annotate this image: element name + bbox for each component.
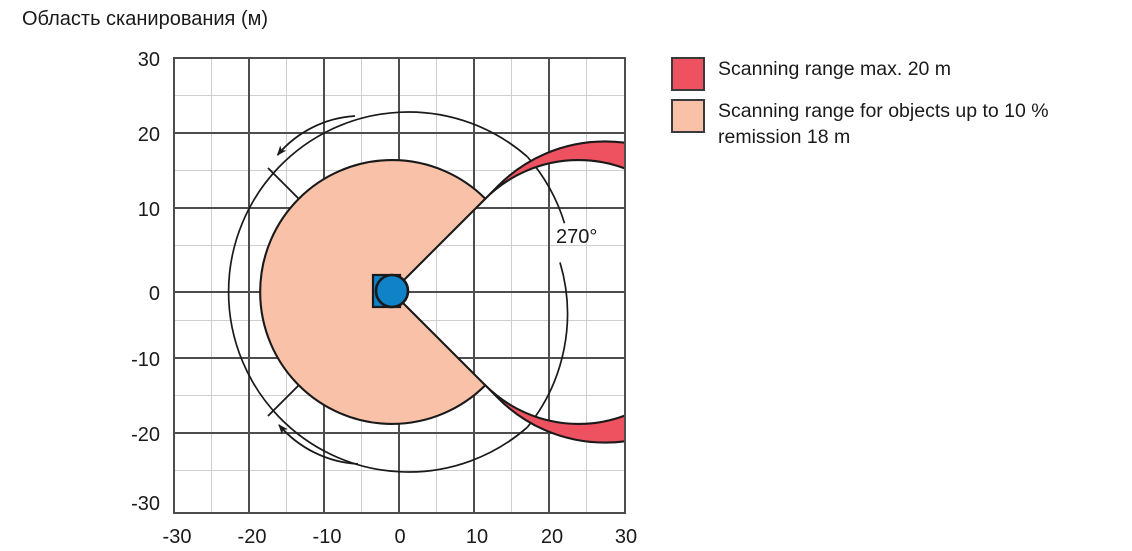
y-tick-label: -10 [131, 349, 160, 371]
legend-swatch-scanning-range-max [671, 57, 705, 91]
legend-swatch-remission-range [671, 99, 705, 133]
x-tick-label: -20 [238, 526, 267, 548]
legend-item-remission-range: Scanning range for objects up to 10 % re… [671, 98, 1091, 150]
sensor-marker [373, 275, 408, 307]
x-tick-label: 10 [466, 526, 488, 548]
y-tick-label: 10 [138, 199, 160, 221]
x-axis-tick-labels: -30 -20 -10 0 10 20 30 [163, 526, 638, 548]
x-tick-label: 20 [541, 526, 563, 548]
y-tick-label: -20 [131, 424, 160, 446]
y-axis-tick-labels: 30 20 10 0 -10 -20 -30 [131, 49, 160, 515]
legend-label-remission-range: Scanning range for objects up to 10 % re… [718, 98, 1058, 150]
x-tick-label: 30 [615, 526, 637, 548]
sensor-head-circle [376, 275, 408, 307]
chart-legend: Scanning range max. 20 m Scanning range … [671, 56, 1091, 157]
x-tick-label: 0 [394, 526, 405, 548]
y-tick-label: -30 [131, 493, 160, 515]
y-tick-label: 30 [138, 49, 160, 71]
scanning-field-diagram: 270° 30 20 10 0 -10 -20 -30 -30 -20 -10 … [0, 0, 1132, 551]
y-tick-label: 0 [149, 283, 160, 305]
y-tick-label: 20 [138, 124, 160, 146]
x-tick-label: -30 [163, 526, 192, 548]
legend-label-scanning-range-max: Scanning range max. 20 m [718, 56, 951, 82]
aperture-angle-label: 270° [556, 226, 597, 248]
x-tick-label: -10 [313, 526, 342, 548]
legend-item-scanning-range-max: Scanning range max. 20 m [671, 56, 1091, 91]
